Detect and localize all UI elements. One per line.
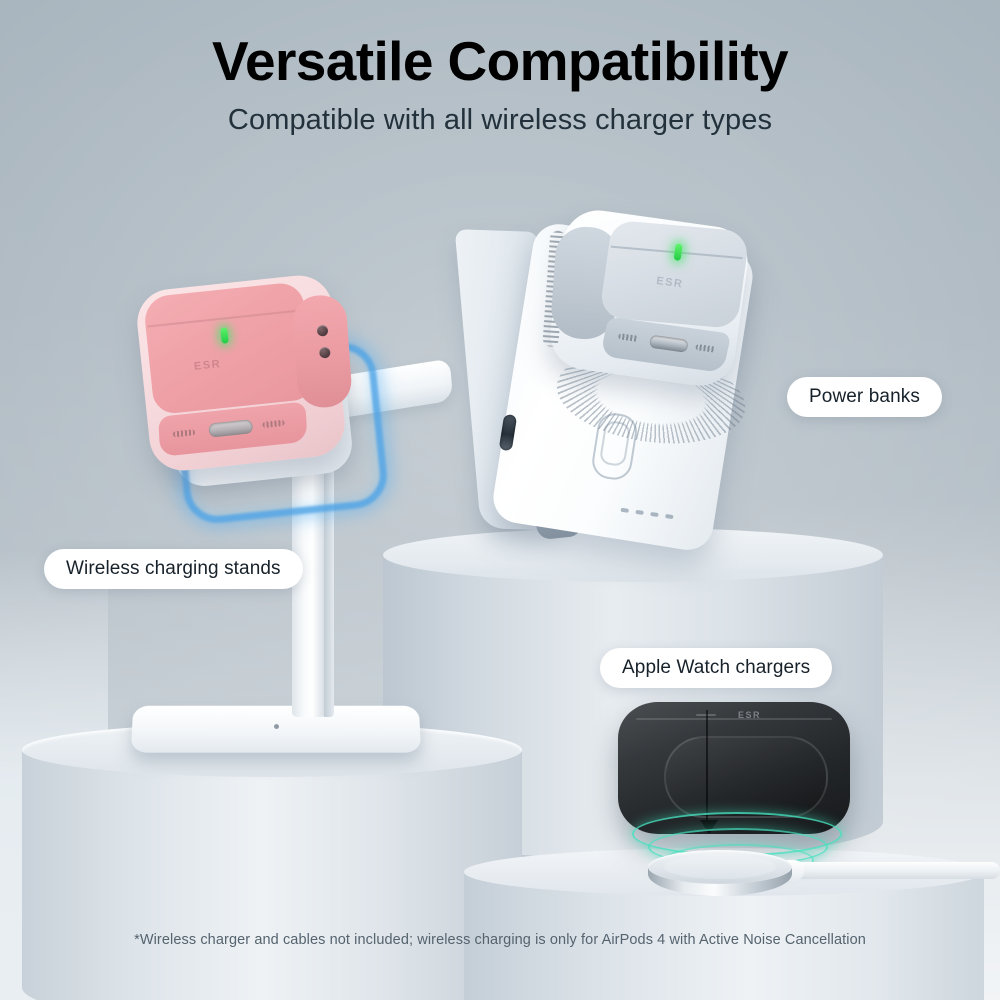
apple-watch-charger-cable (784, 862, 1000, 879)
disclaimer-footnote: *Wireless charger and cables not include… (0, 932, 1000, 948)
callout-apple-watch-chargers: Apple Watch chargers (600, 648, 832, 688)
callout-label: Apple Watch chargers (622, 657, 810, 679)
battery-led-3 (650, 511, 658, 516)
page-title: Versatile Compatibility (0, 33, 1000, 91)
puck-charging-surface (664, 855, 776, 879)
callout-label: Power banks (809, 386, 920, 408)
case-black-inner-recess (664, 736, 828, 818)
callout-power-banks: Power banks (787, 377, 942, 417)
case-black-lid-seam (636, 718, 832, 720)
callout-label: Wireless charging stands (66, 558, 281, 580)
battery-led-1 (621, 507, 629, 512)
charging-stand-indicator-dot (274, 724, 279, 729)
apple-watch-charger-puck (648, 850, 792, 902)
callout-wireless-charging-stands: Wireless charging stands (44, 549, 303, 589)
charging-stand-base (131, 706, 421, 753)
charging-led-indicator (220, 327, 229, 344)
airpods-case-black: ESR (618, 702, 850, 834)
airpods-case-pink: ESR (134, 272, 348, 473)
case-black-vertical-seam (706, 710, 708, 828)
battery-led-2 (635, 509, 643, 514)
pedestal-left (22, 723, 522, 1000)
case-grey-front-panel (599, 220, 750, 329)
battery-led-4 (665, 514, 673, 519)
case-pink-front-panel (143, 281, 314, 415)
page-subtitle: Compatible with all wireless charger typ… (0, 104, 1000, 137)
esr-logo: ESR (738, 710, 761, 720)
airpods-case-grey: ESR (546, 206, 752, 390)
pedestal-left-body (22, 749, 522, 1000)
product-marketing-image: ESR ESR ESR (0, 0, 1000, 1000)
